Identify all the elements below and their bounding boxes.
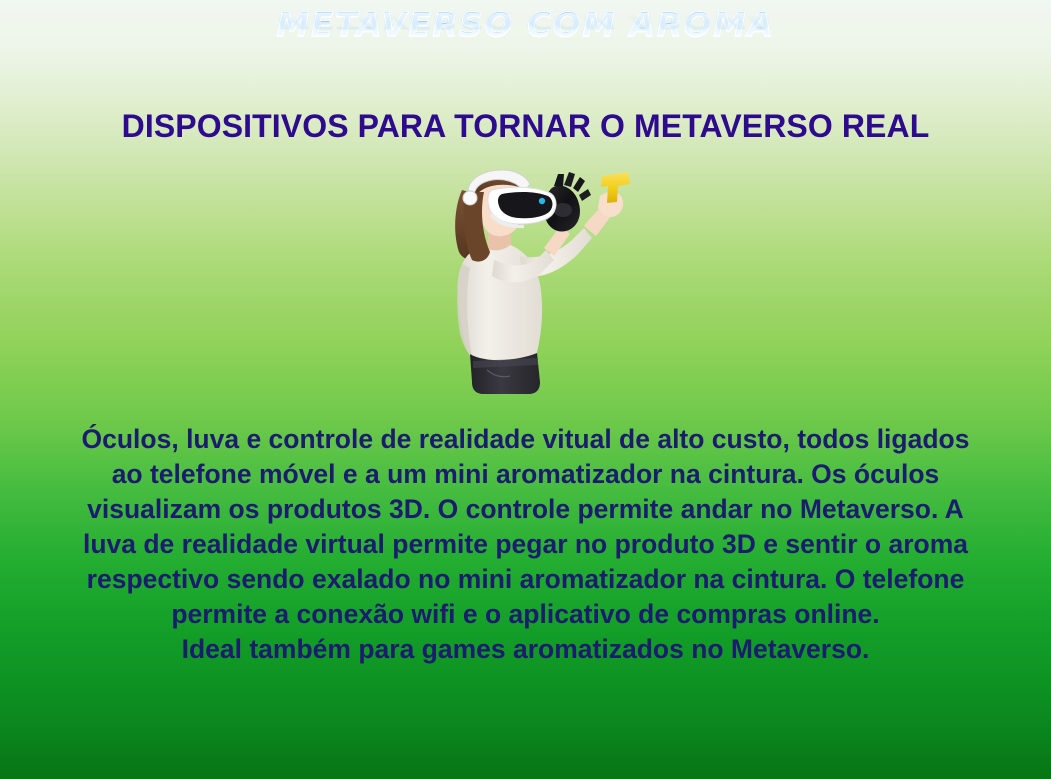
slide-subtitle: DISPOSITIVOS PARA TORNAR O METAVERSO REA… xyxy=(0,108,1051,145)
glove-finger-1 xyxy=(554,174,564,187)
vr-user-photo xyxy=(432,168,632,395)
slide-body-text: Óculos, luva e controle de realidade vit… xyxy=(12,422,1039,667)
presentation-slide: METAVERSO COM AROMA METAVERSO COM AROMA … xyxy=(0,0,1051,779)
vr-user-illustration xyxy=(432,168,632,395)
glove-finger-4 xyxy=(579,189,591,201)
body-line: ao telefone móvel e a um mini aromatizad… xyxy=(12,457,1039,492)
glove-finger-2 xyxy=(564,172,575,187)
body-line: Ideal também para games aromatizados no … xyxy=(12,632,1039,667)
body-line: permite a conexão wifi e o aplicativo de… xyxy=(12,597,1039,632)
body-line: Óculos, luva e controle de realidade vit… xyxy=(12,422,1039,457)
body-line: luva de realidade virtual permite pegar … xyxy=(12,527,1039,562)
slide-title-text: METAVERSO COM AROMA xyxy=(277,8,775,41)
headset-visor xyxy=(498,192,552,218)
slide-title-reflection: METAVERSO COM AROMA xyxy=(0,12,1051,32)
body-line: respectivo sendo exalado no mini aromati… xyxy=(12,562,1039,597)
glove-finger-3 xyxy=(573,177,585,192)
headset-strap-dial xyxy=(463,191,477,205)
headset-led xyxy=(539,198,545,204)
glove-knuckle-pad xyxy=(554,203,572,217)
body-line: visualizam os produtos 3D. O controle pe… xyxy=(12,492,1039,527)
slide-title-wordart: METAVERSO COM AROMA METAVERSO COM AROMA xyxy=(0,8,1051,65)
